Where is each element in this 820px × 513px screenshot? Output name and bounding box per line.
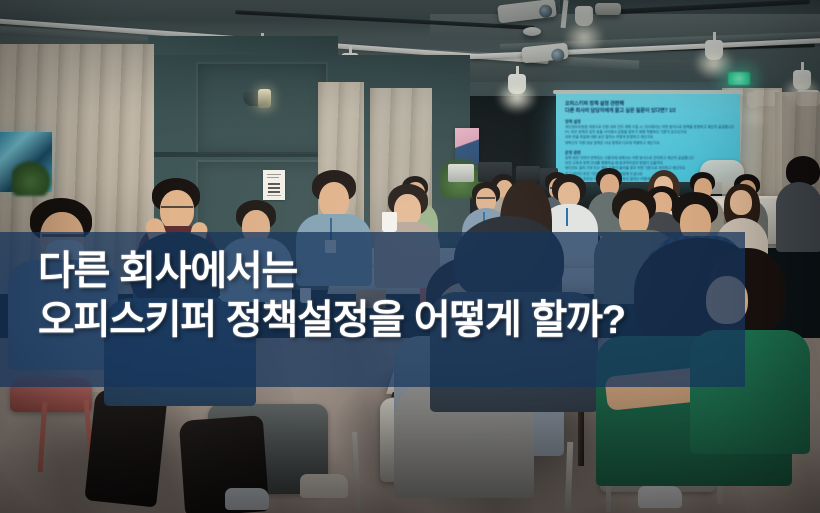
wall-moulding [196,62,328,154]
track-spotlight [705,32,723,40]
spotlight-stem [713,32,716,40]
person-head [160,190,194,230]
spotlight-stem [801,62,804,70]
slide-bullet: 재택근무 직원 대상 정책은 사내 정책과 다르게 적용하고 계신가요 [565,141,731,146]
glasses-icon [477,197,495,199]
notice-line [267,174,281,175]
wall-sconce [243,92,269,106]
notice-line [267,177,279,178]
sconce-bulb [258,89,271,108]
slide-headline-2: 다른 회사의 담당자에게 묻고 싶은 질문이 있다면? 1/2 [565,108,731,115]
glasses-icon [161,206,193,208]
notice-line [267,195,281,196]
wall-notice [263,170,285,200]
ceiling-speaker [595,3,621,15]
person-head [319,182,349,218]
person-body [776,182,820,252]
desk-monitor [448,164,474,182]
track-spotlight [341,45,359,53]
person-head [730,190,752,215]
shoe [638,486,682,508]
potted-plant [12,160,52,196]
spotlight-glow [496,80,538,114]
shoe [225,488,269,510]
overlay-title: 다른 회사에서는 오피스키퍼 정책설정을 어떻게 할까? [38,247,738,345]
backpack [84,389,167,508]
exit-sign-icon [728,72,750,85]
spotlight-glow [563,20,605,54]
spotlight-stem [349,45,352,53]
track-spotlight [508,66,526,74]
wall-chair-rail [152,152,330,157]
projector-lens [538,4,552,18]
ceiling-speaker [523,27,541,36]
notice-qr-icon [268,181,280,193]
paper-cup [382,212,397,232]
ceiling-projector [521,43,568,64]
spotlight-stem [516,66,519,74]
thumbnail-canvas: 오피스키퍼 정책 설정 관련해 다른 회사의 담당자에게 묻고 싶은 질문이 있… [0,0,820,513]
shoe [300,474,348,498]
track-spotlight [793,62,811,70]
lanyard [566,208,568,226]
